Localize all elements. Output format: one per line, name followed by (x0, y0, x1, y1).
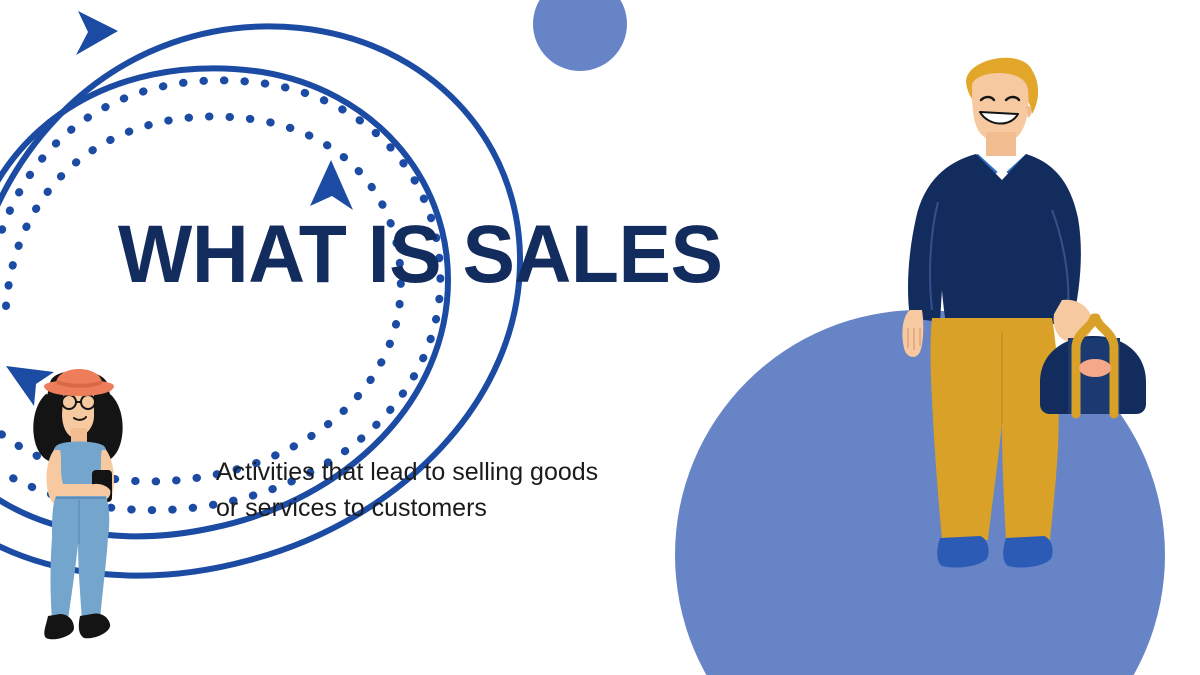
man-neck (986, 132, 1016, 158)
arrowhead-right-icon (310, 160, 353, 210)
man-trousers (931, 318, 1059, 540)
page-subtitle: Activities that lead to selling goods or… (216, 455, 616, 526)
man-head (972, 73, 1029, 142)
woman-with-phone-illustration (16, 358, 144, 658)
woman-shoe-right (79, 613, 110, 638)
man-shoe-right (1003, 536, 1052, 568)
woman-hat-crown (56, 369, 102, 384)
woman-jeans (51, 496, 110, 620)
arrowhead-top-left-icon (76, 11, 118, 55)
page-title: WHAT IS SALES (118, 214, 723, 296)
man-shoe-left (937, 536, 988, 568)
woman-shoe-left (44, 614, 74, 639)
man-hand-right (1054, 300, 1093, 343)
slide-canvas: WHAT IS SALES Activities that lead to se… (0, 0, 1200, 675)
periwinkle-circle-small (533, 0, 627, 71)
man-blazer (908, 154, 1081, 324)
man-bag-tab (1079, 359, 1111, 377)
businessman-with-bag-illustration (880, 52, 1170, 572)
